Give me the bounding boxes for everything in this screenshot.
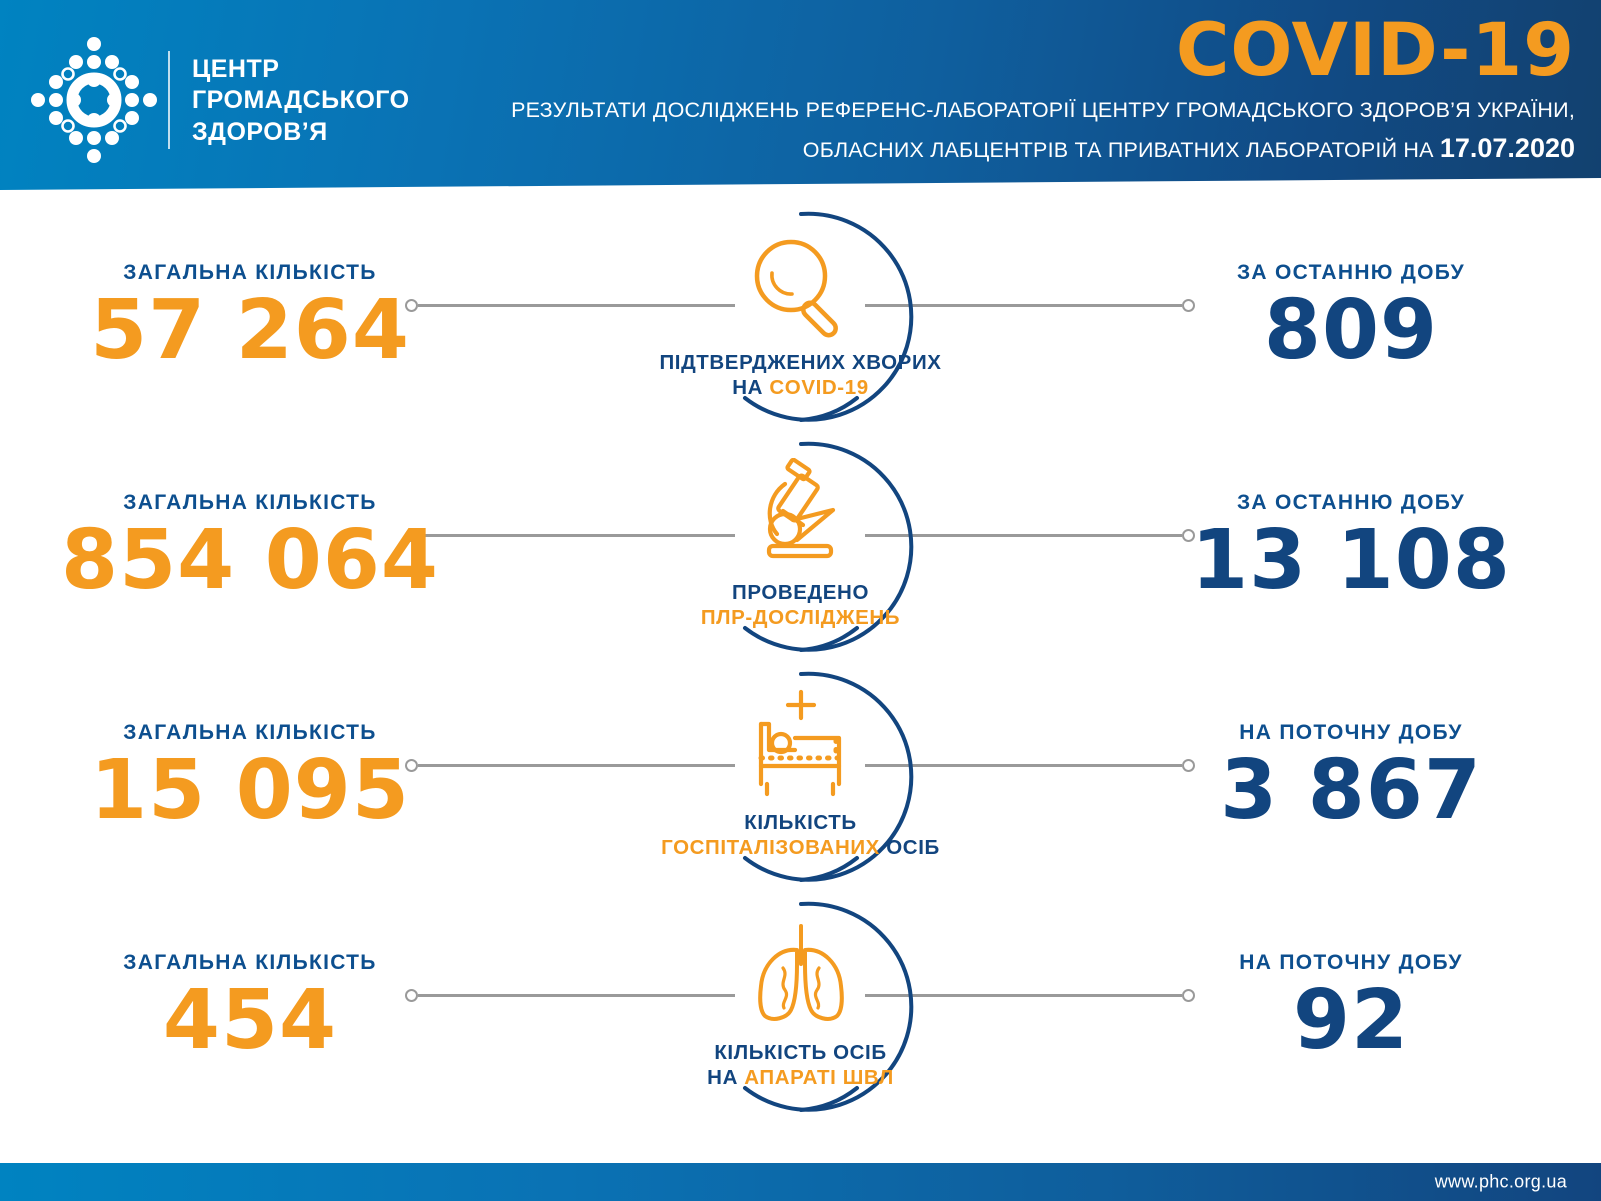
- label-line-1: ПІДТВЕРДЖЕНИХ ХВОРИХ: [631, 350, 971, 375]
- stats-rows: ЗАГАЛЬНА КІЛЬКІСТЬ 57 264 ПІДТВЕРДЖЕНИ: [0, 190, 1601, 1165]
- footer-website-url[interactable]: www.phc.org.ua: [1435, 1172, 1567, 1193]
- stat-left: ЗАГАЛЬНА КІЛЬКІСТЬ 454: [40, 951, 460, 1063]
- stat-left-value: 854 064: [61, 519, 439, 603]
- stat-row: ЗАГАЛЬНА КІЛЬКІСТЬ 15 095: [0, 662, 1601, 892]
- report-date: 17.07.2020: [1440, 133, 1575, 163]
- stat-center: ПРОВЕДЕНО ПЛР-ДОСЛІДЖЕНЬ: [686, 432, 916, 662]
- stat-right: ЗА ОСТАННЮ ДОБУ 13 108: [1141, 491, 1561, 603]
- label-line-2-plain: НА: [732, 376, 769, 399]
- lungs-icon: [686, 914, 916, 1042]
- page-footer: www.phc.org.ua: [0, 1163, 1601, 1201]
- label-line-2: НА АПАРАТІ ШВЛ: [631, 1065, 971, 1090]
- stat-right-value: 13 108: [1191, 519, 1511, 603]
- subtitle-line-2-prefix: ОБЛАСНИХ ЛАБЦЕНТРІВ ТА ПРИВАТНИХ ЛАБОРАТ…: [803, 138, 1440, 162]
- label-line-2-suffix: ОСІБ: [880, 836, 940, 859]
- stat-center-label: КІЛЬКІСТЬ ОСІБ НА АПАРАТІ ШВЛ: [631, 1040, 971, 1090]
- logo-divider: [168, 51, 170, 149]
- stat-right-caption: НА ПОТОЧНУ ДОБУ: [1239, 951, 1462, 975]
- stat-right-caption: ЗА ОСТАННЮ ДОБУ: [1237, 261, 1465, 285]
- brand-logo: ЦЕНТР ГРОМАДСЬКОГО ЗДОРОВ’Я: [26, 32, 410, 168]
- stat-right: НА ПОТОЧНУ ДОБУ 92: [1141, 951, 1561, 1063]
- label-line-2: ГОСПІТАЛІЗОВАНИХ ОСІБ: [631, 835, 971, 860]
- label-line-1: ПРОВЕДЕНО: [631, 580, 971, 605]
- stat-left-value: 15 095: [90, 749, 410, 833]
- logo-text: ЦЕНТР ГРОМАДСЬКОГО ЗДОРОВ’Я: [192, 52, 410, 149]
- stat-center-label: ПРОВЕДЕНО ПЛР-ДОСЛІДЖЕНЬ: [631, 580, 971, 630]
- label-line-2-plain: НА: [707, 1066, 744, 1089]
- label-line-2-highlight: АПАРАТІ ШВЛ: [744, 1066, 894, 1089]
- label-line-1: КІЛЬКІСТЬ: [631, 810, 971, 835]
- label-line-2-highlight: ГОСПІТАЛІЗОВАНИХ: [661, 836, 880, 859]
- stat-left: ЗАГАЛЬНА КІЛЬКІСТЬ 57 264: [40, 261, 460, 373]
- label-line-2: НА COVID-19: [631, 375, 971, 400]
- stat-left-caption: ЗАГАЛЬНА КІЛЬКІСТЬ: [123, 721, 376, 745]
- stat-center-label: ПІДТВЕРДЖЕНИХ ХВОРИХ НА COVID-19: [631, 350, 971, 400]
- stat-left-value: 454: [163, 979, 337, 1063]
- stat-left: ЗАГАЛЬНА КІЛЬКІСТЬ 854 064: [40, 491, 460, 603]
- label-line-1: КІЛЬКІСТЬ ОСІБ: [631, 1040, 971, 1065]
- stat-row: ЗАГАЛЬНА КІЛЬКІСТЬ 57 264 ПІДТВЕРДЖЕНИ: [0, 202, 1601, 432]
- stat-right-value: 3 867: [1220, 749, 1482, 833]
- stat-left: ЗАГАЛЬНА КІЛЬКІСТЬ 15 095: [40, 721, 460, 833]
- stat-left-caption: ЗАГАЛЬНА КІЛЬКІСТЬ: [123, 951, 376, 975]
- stat-left-caption: ЗАГАЛЬНА КІЛЬКІСТЬ: [123, 491, 376, 515]
- stat-row: ЗАГАЛЬНА КІЛЬКІСТЬ 854 064: [0, 432, 1601, 662]
- page-header: ЦЕНТР ГРОМАДСЬКОГО ЗДОРОВ’Я COVID-19 РЕЗ…: [0, 0, 1601, 190]
- stat-center: КІЛЬКІСТЬ ГОСПІТАЛІЗОВАНИХ ОСІБ: [686, 662, 916, 892]
- stat-left-caption: ЗАГАЛЬНА КІЛЬКІСТЬ: [123, 261, 376, 285]
- stat-right-value: 809: [1264, 289, 1438, 373]
- stat-right-caption: НА ПОТОЧНУ ДОБУ: [1239, 721, 1462, 745]
- stat-right-value: 92: [1293, 979, 1409, 1063]
- page-title: COVID-19: [495, 14, 1575, 88]
- hospital-bed-icon: [686, 684, 916, 812]
- magnifier-icon: [686, 224, 916, 352]
- stat-left-value: 57 264: [90, 289, 410, 373]
- label-line-2-highlight: COVID-19: [769, 376, 868, 399]
- stat-center: ПІДТВЕРДЖЕНИХ ХВОРИХ НА COVID-19: [686, 202, 916, 432]
- stat-right: НА ПОТОЧНУ ДОБУ 3 867: [1141, 721, 1561, 833]
- stat-center-label: КІЛЬКІСТЬ ГОСПІТАЛІЗОВАНИХ ОСІБ: [631, 810, 971, 860]
- stat-right: ЗА ОСТАННЮ ДОБУ 809: [1141, 261, 1561, 373]
- stat-center: КІЛЬКІСТЬ ОСІБ НА АПАРАТІ ШВЛ: [686, 892, 916, 1122]
- stat-row: ЗАГАЛЬНА КІЛЬКІСТЬ 454: [0, 892, 1601, 1122]
- subtitle-line-2: ОБЛАСНИХ ЛАБЦЕНТРІВ ТА ПРИВАТНИХ ЛАБОРАТ…: [495, 128, 1575, 170]
- stat-right-caption: ЗА ОСТАННЮ ДОБУ: [1237, 491, 1465, 515]
- label-line-2: ПЛР-ДОСЛІДЖЕНЬ: [631, 605, 971, 630]
- label-line-2-highlight: ПЛР-ДОСЛІДЖЕНЬ: [701, 606, 900, 629]
- header-right-block: COVID-19 РЕЗУЛЬТАТИ ДОСЛІДЖЕНЬ РЕФЕРЕНС-…: [495, 14, 1575, 170]
- phc-mandala-logo-icon: [26, 32, 162, 168]
- subtitle-line-1: РЕЗУЛЬТАТИ ДОСЛІДЖЕНЬ РЕФЕРЕНС-ЛАБОРАТОР…: [495, 94, 1575, 127]
- microscope-icon: [686, 454, 916, 582]
